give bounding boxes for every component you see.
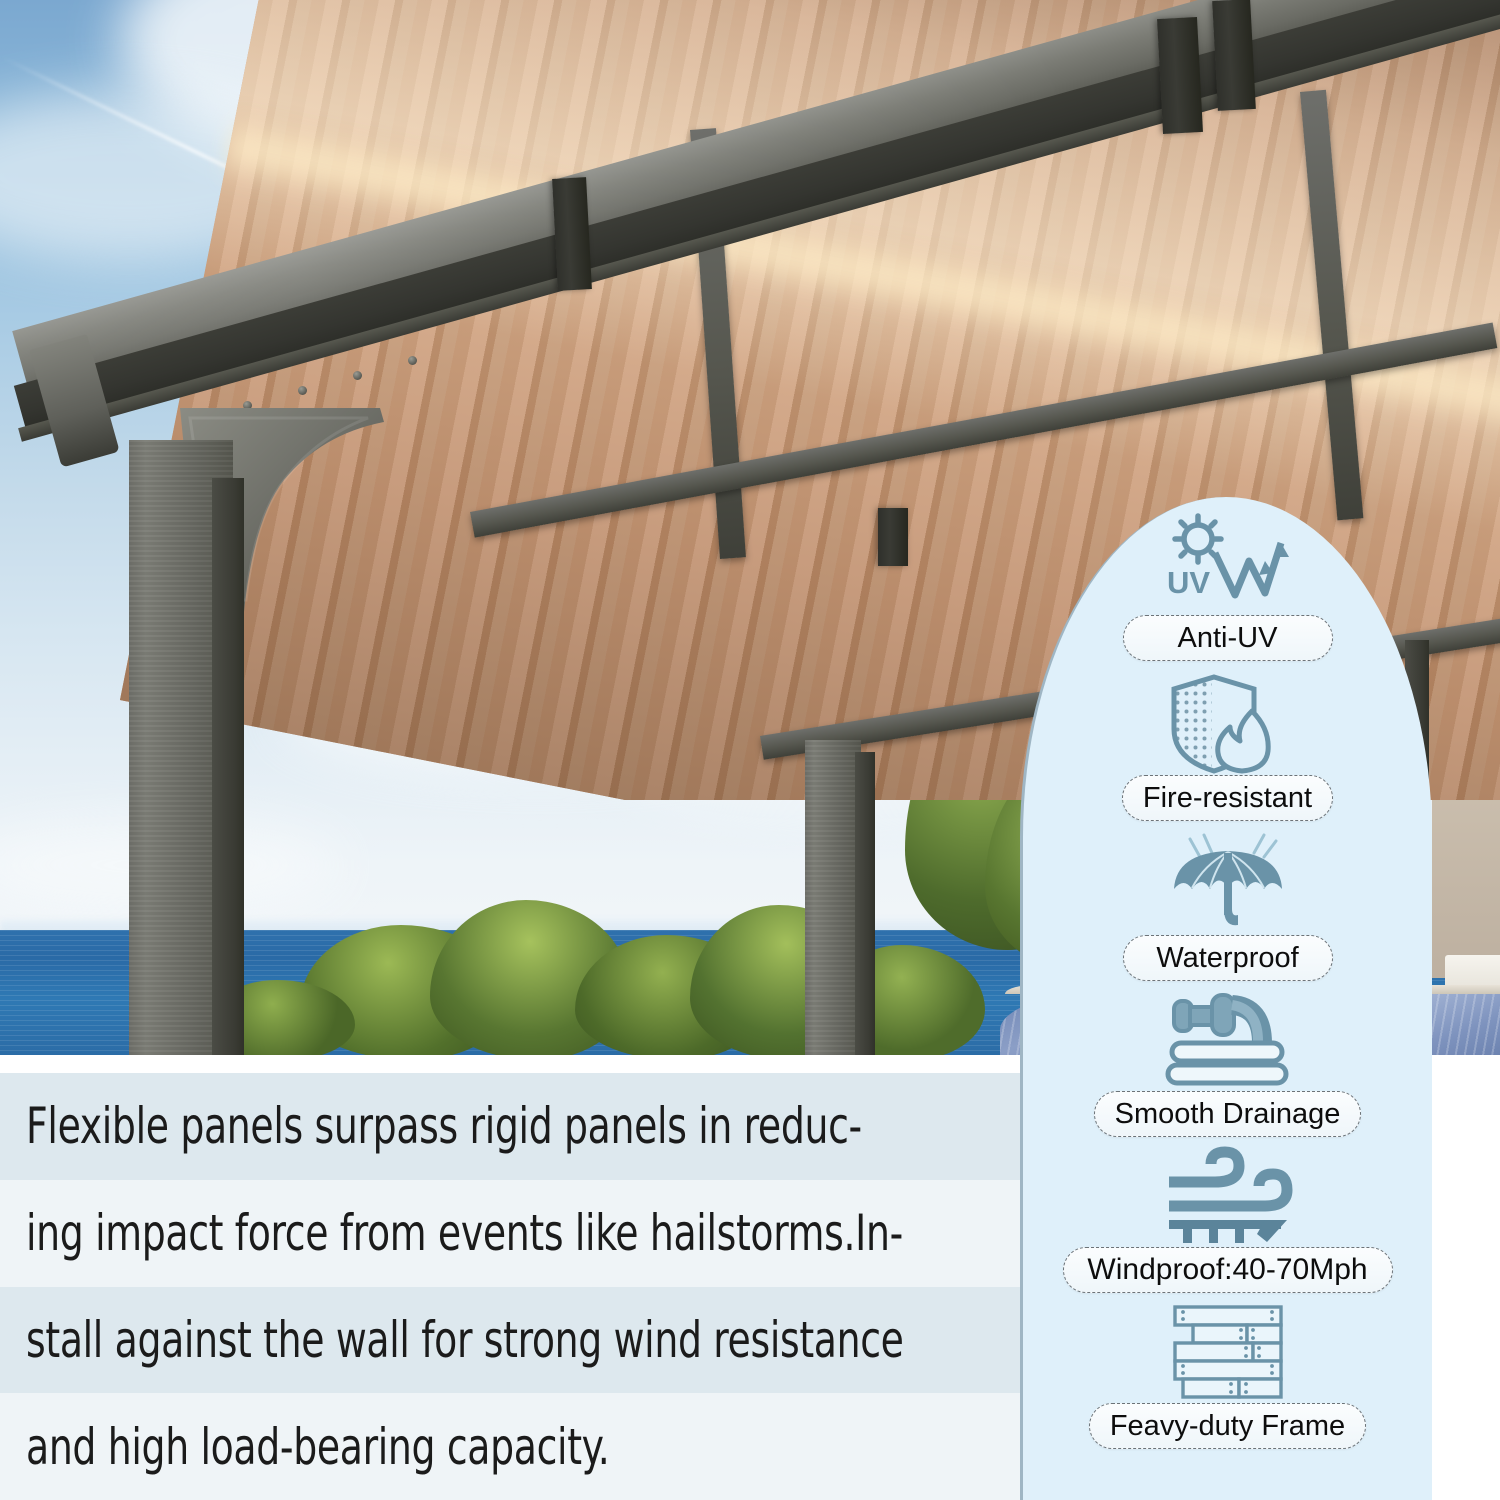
heavy-duty-frame-stacked-beams-icon	[1167, 1299, 1289, 1403]
windproof-wind-gust-icon	[1153, 1143, 1303, 1247]
beam-bracket-plate	[1157, 17, 1203, 134]
feature-fire-resistant: Fire-resistant	[1023, 671, 1432, 821]
feature-label: Feavy-duty Frame	[1110, 1410, 1345, 1443]
uv-label: UV	[1167, 565, 1210, 600]
waterproof-umbrella-rain-icon	[1160, 831, 1296, 935]
anti-uv-sun-rays-icon: UV	[1153, 511, 1303, 615]
feature-highlight-panel: UV Anti-UV	[1020, 497, 1432, 1500]
feature-pill: Waterproof	[1123, 935, 1333, 981]
beam-bracket-plate	[1212, 0, 1256, 111]
feature-label: Waterproof	[1156, 942, 1298, 975]
description-line-text: ing impact force from events like hailst…	[26, 1204, 903, 1262]
pergola-post-left-side	[212, 478, 244, 1055]
beam-bracket-plate	[552, 177, 592, 291]
smooth-drainage-hose-icon	[1158, 987, 1298, 1091]
feature-pill: Anti-UV	[1123, 615, 1333, 661]
bolt	[353, 371, 362, 380]
description-line: stall against the wall for strong wind r…	[0, 1287, 1022, 1394]
feature-heavy-duty-frame: Feavy-duty Frame	[1023, 1299, 1432, 1449]
feature-anti-uv: UV Anti-UV	[1023, 511, 1432, 661]
feature-pill: Windproof:40-70Mph	[1063, 1247, 1393, 1293]
description-line: ing impact force from events like hailst…	[0, 1180, 1022, 1287]
description-line-text: and high load-bearing capacity.	[26, 1418, 609, 1476]
feature-label: Fire-resistant	[1143, 782, 1312, 815]
description-line: Flexible panels surpass rigid panels in …	[0, 1073, 1022, 1180]
feature-label: Smooth Drainage	[1115, 1098, 1341, 1131]
rafter-hanger	[878, 508, 908, 566]
feature-waterproof: Waterproof	[1023, 831, 1432, 981]
description-text-panel: Flexible panels surpass rigid panels in …	[0, 1073, 1022, 1500]
feature-pill: Fire-resistant	[1122, 775, 1333, 821]
pergola-post-middle-side	[855, 752, 875, 1055]
fire-resistant-shield-flame-icon	[1164, 671, 1292, 775]
description-line: and high load-bearing capacity.	[0, 1393, 1022, 1500]
feature-pill: Feavy-duty Frame	[1089, 1403, 1366, 1449]
feature-pill: Smooth Drainage	[1094, 1091, 1362, 1137]
feature-smooth-drainage: Smooth Drainage	[1023, 987, 1432, 1137]
feature-label: Anti-UV	[1178, 622, 1278, 655]
description-line-text: Flexible panels surpass rigid panels in …	[26, 1097, 862, 1155]
bolt	[408, 356, 417, 365]
feature-label: Windproof:40-70Mph	[1087, 1253, 1367, 1287]
product-marketing-image: Flexible panels surpass rigid panels in …	[0, 0, 1500, 1500]
bolt	[298, 386, 307, 395]
description-line-text: stall against the wall for strong wind r…	[26, 1311, 904, 1369]
feature-windproof: Windproof:40-70Mph	[1023, 1143, 1432, 1293]
pergola-post-middle	[805, 740, 861, 1055]
